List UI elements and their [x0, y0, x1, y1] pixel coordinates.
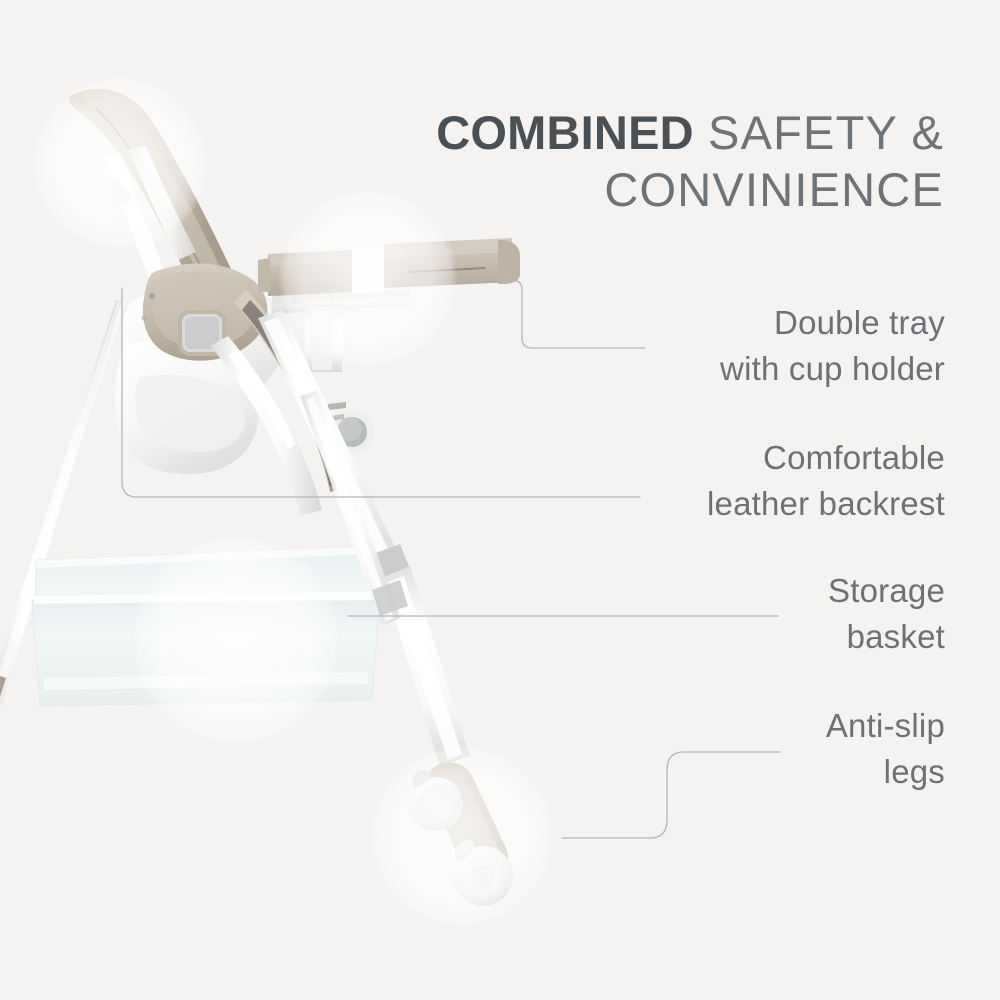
feature-label-anti-slip-legs-line2: legs: [515, 749, 945, 795]
feature-label-anti-slip-legs: Anti-slip legs: [515, 703, 945, 794]
title-light-part2: CONVINIENCE: [604, 163, 944, 216]
infographic-canvas: COMBINED SAFETY & CONVINIENCE Double tra…: [0, 0, 1000, 1000]
feature-label-double-tray: Double tray with cup holder: [515, 300, 945, 391]
feature-label-anti-slip-legs-line1: Anti-slip: [515, 703, 945, 749]
feature-label-storage-basket: Storage basket: [515, 568, 945, 659]
page-title: COMBINED SAFETY & CONVINIENCE: [344, 104, 944, 219]
title-light-part1: SAFETY &: [694, 106, 944, 159]
feature-label-double-tray-line2: with cup holder: [515, 346, 945, 392]
feature-label-leather-backrest: Comfortable leather backrest: [515, 435, 945, 526]
feature-label-storage-basket-line1: Storage: [515, 568, 945, 614]
title-bold-word: COMBINED: [436, 106, 693, 159]
feature-label-storage-basket-line2: basket: [515, 614, 945, 660]
feature-label-double-tray-line1: Double tray: [515, 300, 945, 346]
feature-label-leather-backrest-line2: leather backrest: [515, 481, 945, 527]
feature-label-leather-backrest-line1: Comfortable: [515, 435, 945, 481]
